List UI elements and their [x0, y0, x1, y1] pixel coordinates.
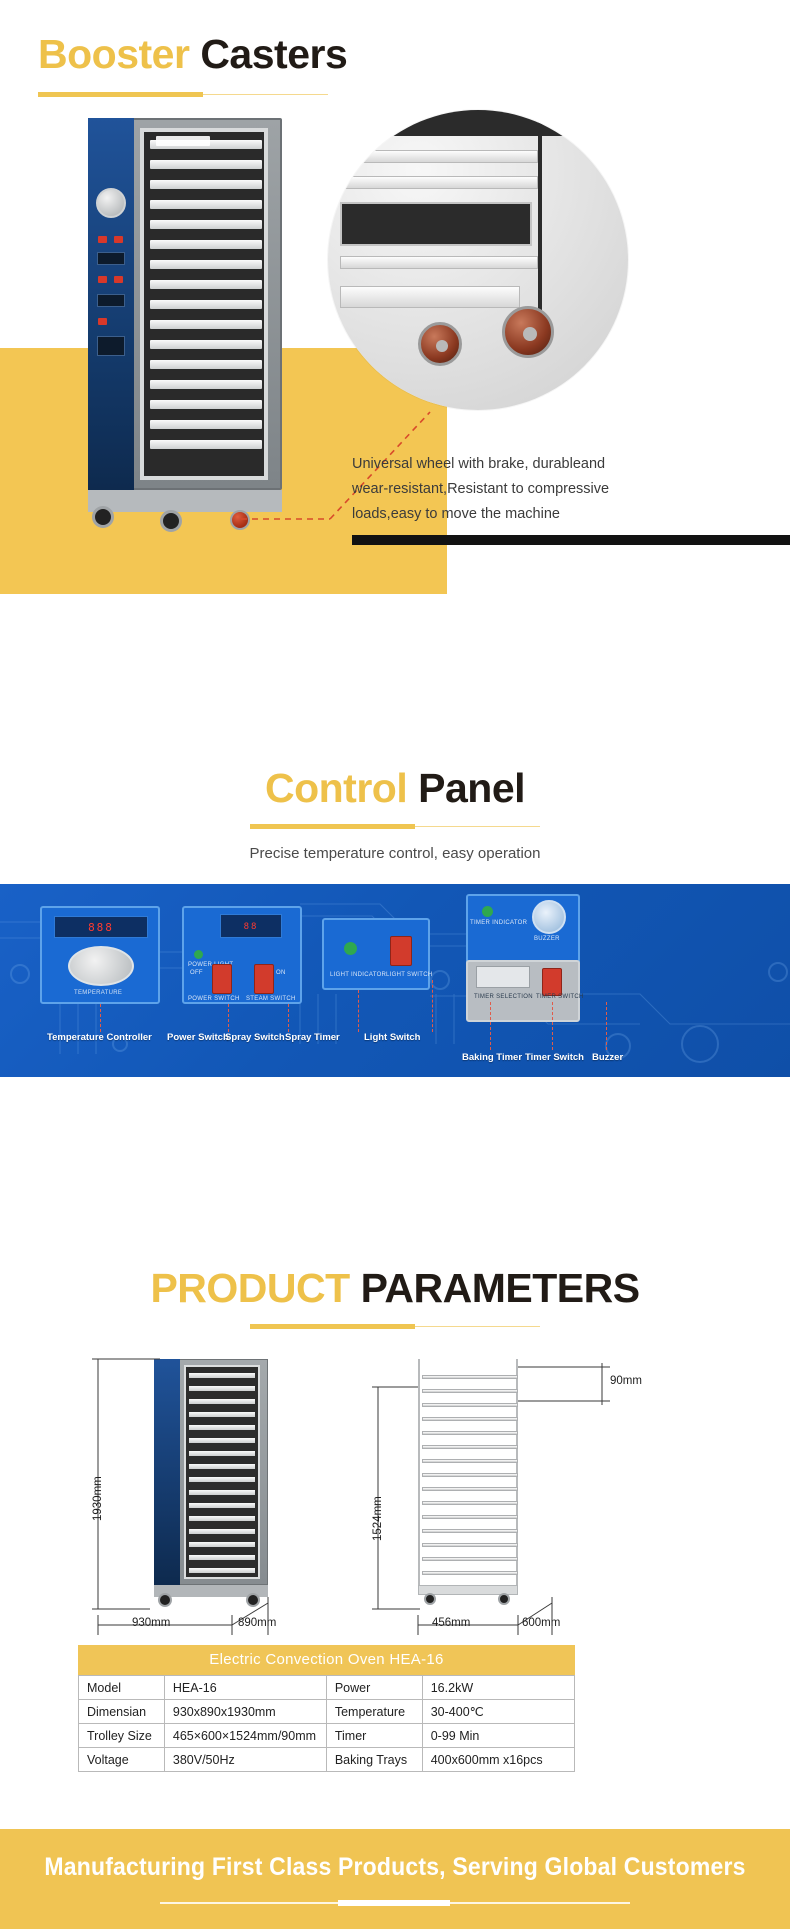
specification-table-wrap: Electric Convection Oven HEA-16 Model HE…	[78, 1645, 575, 1772]
leader-line	[100, 1004, 101, 1032]
caster-wheel-icon	[418, 322, 462, 366]
panel-label-power-switch: Power Switch	[167, 1032, 229, 1043]
footer-slogan: Manufacturing First Class Products, Serv…	[32, 1829, 759, 1882]
accent-bar-dark	[352, 535, 790, 543]
dim-oven-width: 930mm	[132, 1617, 170, 1629]
temperature-display: 888	[54, 916, 148, 938]
dim-oven-depth: 890mm	[238, 1617, 276, 1629]
rule-thick	[338, 1900, 450, 1906]
led-indicator-icon	[114, 236, 123, 243]
params-heading-rule	[250, 1324, 540, 1329]
control-heading-rule	[250, 824, 540, 829]
spec-value: 0-99 Min	[422, 1724, 574, 1748]
led-indicator-icon	[98, 276, 107, 283]
light-switch-toggle[interactable]	[390, 936, 412, 966]
control-heading: Control Panel	[0, 740, 790, 829]
led-indicator-icon	[114, 276, 123, 283]
control-panel-illustration: 888 TEMPERATURE 88 POWER LIGHT OFF ON PO…	[0, 884, 790, 1077]
casters-description: Universal wheel with brake, durableand w…	[352, 452, 642, 527]
footer-banner: Manufacturing First Class Products, Serv…	[0, 1829, 790, 1929]
control-heading-dark: Panel	[418, 765, 525, 811]
caster-wheel-icon	[424, 1593, 436, 1605]
casters-heading-accent: Booster	[38, 31, 189, 77]
caster-closeup-photo	[328, 110, 628, 410]
panel-label-spray-switch: Spray Switch	[225, 1032, 285, 1043]
caster-wheel-icon	[498, 1593, 510, 1605]
oven-display-icon	[97, 336, 125, 356]
spec-key: Temperature	[326, 1700, 422, 1724]
spec-key: Timer	[326, 1724, 422, 1748]
spec-table-title: Electric Convection Oven HEA-16	[78, 1645, 575, 1675]
panel-label-spray-timer: Spray Timer	[285, 1032, 340, 1043]
params-heading: PRODUCT PARAMETERS	[0, 1240, 790, 1329]
accent-bar-dark-thin	[352, 543, 790, 545]
leader-line	[358, 990, 359, 1032]
rule-thin	[38, 94, 328, 95]
panel-label-buzzer: Buzzer	[592, 1052, 623, 1063]
leader-line	[432, 980, 433, 1032]
spec-key: Trolley Size	[79, 1724, 165, 1748]
power-switch-toggle[interactable]	[212, 964, 232, 994]
spec-value: 930x890x1930mm	[164, 1700, 326, 1724]
dimension-lines	[0, 1353, 790, 1653]
spec-key: Power	[326, 1676, 422, 1700]
params-heading-text: PRODUCT PARAMETERS	[0, 1262, 790, 1314]
table-row: Trolley Size 465×600×1524mm/90mm Timer 0…	[79, 1724, 575, 1748]
table-row: Model HEA-16 Power 16.2kW	[79, 1676, 575, 1700]
rule-thin	[250, 1326, 540, 1327]
trolley-frame	[418, 1359, 518, 1585]
casters-heading-text: Booster Casters	[38, 28, 347, 80]
casters-heading-rule	[38, 92, 328, 97]
panel-label-timer-switch: Timer Switch	[525, 1052, 584, 1063]
panel-label-temperature-controller: Temperature Controller	[47, 1032, 152, 1043]
control-heading-text: Control Panel	[0, 762, 790, 814]
baking-timer-device: TIMER SELECTION TIMER SWITCH	[466, 960, 580, 1022]
caster-wheel-highlight-icon	[230, 510, 250, 530]
spray-switch-toggle[interactable]	[254, 964, 274, 994]
rule-thin	[250, 826, 540, 827]
panel-label-light-switch: Light Switch	[364, 1032, 420, 1043]
leader-line	[490, 1002, 491, 1050]
oven-display-icon	[97, 294, 125, 307]
section-control-panel: Control Panel Precise temperature contro…	[0, 740, 790, 1240]
table-row: Voltage 380V/50Hz Baking Trays 400x600mm…	[79, 1748, 575, 1772]
spec-value: 400x600mm x16pcs	[422, 1748, 574, 1772]
closeup-image	[328, 110, 628, 410]
caster-wheel-icon	[92, 506, 114, 528]
spec-value: 30-400℃	[422, 1700, 574, 1724]
temperature-controller-device: 888 TEMPERATURE	[40, 906, 160, 1004]
light-indicator-icon	[344, 942, 357, 955]
caster-wheel-icon	[160, 510, 182, 532]
panel-label-baking-timer: Baking Timer	[462, 1052, 522, 1063]
dim-trolley-depth: 600mm	[522, 1617, 560, 1629]
brand-logo	[156, 136, 210, 146]
dim-oven-height: 1930mm	[92, 1476, 104, 1521]
casters-heading-dark: Casters	[200, 31, 347, 77]
spec-value: 16.2kW	[422, 1676, 574, 1700]
leader-line	[606, 1002, 607, 1050]
dim-trolley-height: 1524mm	[372, 1496, 384, 1541]
baking-timer-display	[476, 966, 530, 988]
spec-key: Dimensian	[79, 1700, 165, 1724]
section-booster-casters: Booster Casters	[0, 0, 790, 740]
led-indicator-icon	[98, 236, 107, 243]
spec-key: Baking Trays	[326, 1748, 422, 1772]
oven-knob-icon	[96, 188, 126, 218]
product-detail-page: Booster Casters	[0, 0, 790, 1929]
spec-value: 380V/50Hz	[164, 1748, 326, 1772]
leader-line	[288, 1004, 289, 1032]
dimension-diagrams: 1930mm 930mm 890mm 1524mm 90mm 456mm 600…	[0, 1353, 790, 1653]
oven-product-photo	[60, 118, 282, 528]
spec-value: 465×600×1524mm/90mm	[164, 1724, 326, 1748]
leader-line	[552, 1002, 553, 1050]
timer-switch-toggle[interactable]	[542, 968, 562, 996]
oven-control-panel	[88, 118, 134, 490]
timer-indicator-icon	[482, 906, 493, 917]
oven-base	[88, 490, 282, 512]
control-heading-accent: Control	[265, 765, 407, 811]
specification-table: Electric Convection Oven HEA-16 Model HE…	[78, 1645, 575, 1772]
spec-key: Voltage	[79, 1748, 165, 1772]
spec-key: Model	[79, 1676, 165, 1700]
casters-heading: Booster Casters	[38, 28, 347, 97]
dim-trolley-top-gap: 90mm	[610, 1375, 642, 1387]
led-indicator-icon	[98, 318, 107, 325]
caster-wheel-icon	[502, 306, 554, 358]
oven-glass-door	[140, 128, 268, 480]
params-heading-accent: PRODUCT	[150, 1265, 349, 1311]
light-switch-device: LIGHT INDICATOR LIGHT SWITCH	[322, 918, 430, 990]
footer-rule	[160, 1900, 630, 1906]
params-heading-dark: PARAMETERS	[361, 1265, 640, 1311]
spec-value: HEA-16	[164, 1676, 326, 1700]
power-indicator-icon	[194, 950, 203, 959]
temperature-dial-icon	[68, 946, 134, 986]
buzzer-icon	[532, 900, 566, 934]
trolley-dimension-drawing	[418, 1359, 518, 1607]
dim-trolley-width: 456mm	[432, 1617, 470, 1629]
leader-line	[228, 1004, 229, 1032]
spray-timer-display: 88	[220, 914, 282, 938]
control-subtitle: Precise temperature control, easy operat…	[0, 845, 790, 862]
power-spray-device: 88 POWER LIGHT OFF ON POWER SWITCH STEAM…	[182, 906, 302, 1004]
table-row: Dimensian 930x890x1930mm Temperature 30-…	[79, 1700, 575, 1724]
oven-display-icon	[97, 252, 125, 265]
